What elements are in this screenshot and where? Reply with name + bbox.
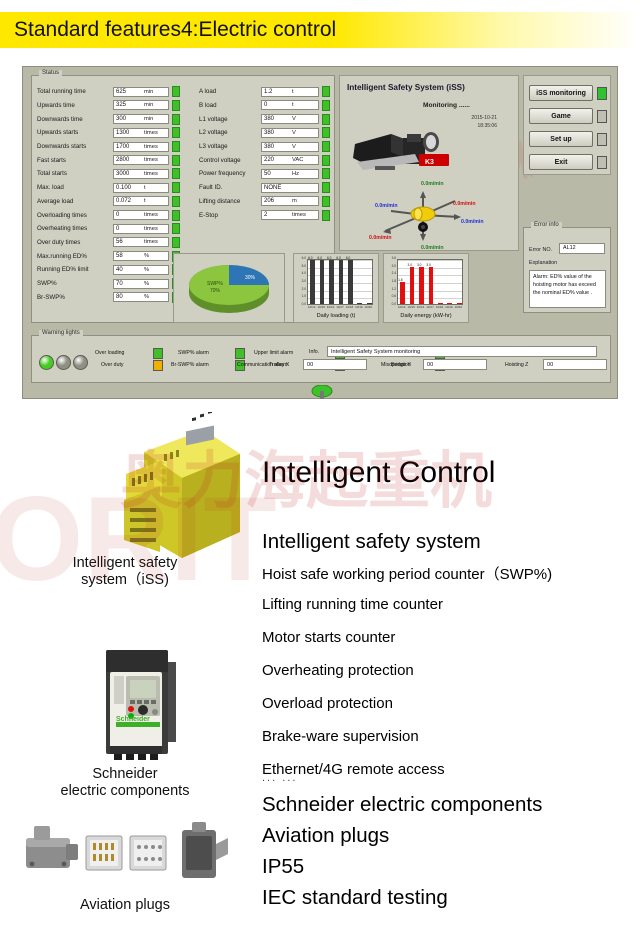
status-value: 625: [114, 89, 126, 95]
status-label: B load: [199, 102, 261, 109]
gridline: [398, 260, 462, 261]
status-unit: %: [144, 267, 168, 273]
status-led-indicator: [172, 100, 180, 111]
status-value-field[interactable]: 2times: [261, 210, 319, 220]
status-led-indicator: [322, 155, 330, 166]
warning-item-label: Br-SWP% alarm: [171, 362, 209, 368]
daily-loading-caption: Daily loading (t): [293, 313, 379, 319]
status-value-field[interactable]: 300min: [113, 114, 169, 124]
status-value-field[interactable]: 70%: [113, 279, 169, 289]
status-value: 80: [114, 294, 123, 300]
status-value-field[interactable]: 40%: [113, 265, 169, 275]
speed-readout: 0.0m/min: [453, 201, 476, 207]
status-value: 70: [114, 281, 123, 287]
status-value: 2: [262, 212, 267, 218]
status-left-row: Upwards time325min: [37, 99, 180, 113]
svg-text:30%: 30%: [245, 275, 256, 281]
status-led-indicator: [172, 223, 180, 234]
status-led-indicator: [322, 86, 330, 97]
hmi-button-led: [597, 156, 607, 169]
y-axis-tick: 2.4: [386, 272, 396, 275]
status-led-indicator: [172, 196, 180, 207]
status-value: 2800: [114, 157, 129, 163]
closing-item: Aviation plugs: [262, 824, 389, 848]
warning-item-label: Over loading: [95, 350, 124, 356]
schneider-vfd-image: Schneider: [96, 642, 192, 762]
status-value-field[interactable]: 0t: [261, 100, 319, 110]
status-right-row: L1 voltage380V: [199, 112, 330, 126]
status-value-field[interactable]: 1.2t: [261, 87, 319, 97]
status-label: E-Stop: [199, 212, 261, 219]
status-value-field[interactable]: 1300times: [113, 128, 169, 138]
warning-lamp: [56, 355, 71, 370]
x-axis-tick: 10/14: [307, 306, 316, 309]
y-axis-tick: 3.0: [296, 280, 306, 283]
status-unit: min: [144, 116, 168, 122]
status-unit: V: [292, 144, 318, 150]
status-value: 40: [114, 267, 123, 273]
coordinate-field[interactable]: 00: [543, 359, 607, 370]
status-value: 50: [262, 171, 271, 177]
y-axis-tick: 6.0: [296, 257, 306, 260]
status-unit: t: [144, 198, 168, 204]
bar-data-label: 6.0: [346, 257, 350, 260]
x-axis-tick: 10/14: [397, 306, 406, 309]
status-label: L3 voltage: [199, 143, 261, 150]
hmi-button-led: [597, 110, 607, 123]
status-value: 0: [114, 212, 119, 218]
status-right-row: A load1.2t: [199, 85, 330, 99]
status-right-row: L2 voltage380V: [199, 126, 330, 140]
status-label: Total running time: [37, 88, 113, 95]
status-right-row: E-Stop2times: [199, 208, 330, 222]
coordinate-label: Hoisting Z: [505, 362, 528, 368]
status-left-row: Downwards starts1700times: [37, 140, 180, 154]
hmi-date: 2015-10-21: [437, 115, 497, 121]
status-label: Upwards time: [37, 102, 113, 109]
status-label: A load: [199, 88, 261, 95]
caption-iss-line1: Intelligent safety: [0, 555, 250, 572]
status-value: 0.100: [114, 185, 131, 191]
pendant-control-icon: [311, 385, 333, 399]
status-value: 56: [114, 239, 123, 245]
status-unit: Hz: [292, 171, 318, 177]
bar: [339, 260, 344, 304]
bar: [457, 303, 462, 304]
bar: [447, 303, 452, 304]
status-right-row: Control voltage220VAC: [199, 154, 330, 168]
iss-module-image: [108, 412, 248, 562]
status-value: 206: [262, 198, 274, 204]
caption-plugs: Aviation plugs: [0, 897, 250, 914]
status-value-field[interactable]: 80%: [113, 292, 169, 302]
status-led-indicator: [172, 86, 180, 97]
status-value-field[interactable]: 325min: [113, 100, 169, 110]
status-left-row: Upwards starts1300times: [37, 126, 180, 140]
feature-item: Hoist safe working period counter（SWP%): [262, 563, 552, 584]
status-unit: %: [144, 253, 168, 259]
status-value-field[interactable]: 0.100t: [113, 183, 169, 193]
status-value: 58: [114, 253, 123, 259]
status-value: 3000: [114, 171, 129, 177]
bar: [400, 282, 405, 304]
x-axis-tick: 10/20: [364, 306, 373, 309]
status-left-row: Downwards time300min: [37, 112, 180, 126]
hoist-illustration: K3: [345, 122, 475, 192]
status-value: 1300: [114, 130, 129, 136]
closing-item: Schneider electric components: [262, 793, 542, 817]
status-label: Over duty times: [37, 239, 113, 246]
bar-data-label: 6.0: [336, 257, 340, 260]
status-label: Control voltage: [199, 157, 261, 164]
bar-data-label: 6.0: [327, 257, 331, 260]
status-label: Fault ID.: [199, 184, 261, 191]
bar: [419, 267, 424, 304]
status-label: Upwards starts: [37, 129, 113, 136]
coordinate-label: Trolley X: [269, 362, 289, 368]
status-led-indicator: [322, 114, 330, 125]
bar: [348, 260, 353, 304]
warning-item-led: [235, 348, 245, 359]
status-value-field[interactable]: 380V: [261, 142, 319, 152]
feature-item: Brake-ware supervision: [262, 728, 419, 745]
bar: [438, 303, 443, 304]
status-led-indicator: [172, 237, 180, 248]
status-unit: m: [292, 198, 318, 204]
warning-item-label: SWP% alarm: [178, 350, 209, 356]
warning-lamp: [73, 355, 88, 370]
swp-pie-chart: 30% SWP% 70%: [181, 259, 277, 317]
svg-text:SWP%: SWP%: [207, 281, 223, 287]
caption-plugs-line1: Aviation plugs: [0, 897, 250, 914]
status-unit: %: [144, 281, 168, 287]
status-unit: t: [292, 89, 318, 95]
status-left-row: Max.running ED%58%: [37, 249, 180, 263]
x-axis-tick: 10/18: [345, 306, 354, 309]
explanation-label: Explanation: [529, 260, 557, 266]
bar: [329, 260, 334, 304]
status-value-field[interactable]: NONE: [261, 183, 319, 193]
y-axis-tick: 3.0: [386, 265, 396, 268]
status-label: Max.running ED%: [37, 253, 113, 260]
x-axis-tick: 10/16: [416, 306, 425, 309]
status-label: Fast starts: [37, 157, 113, 164]
status-unit: times: [292, 212, 318, 218]
monitoring-status: Monitoring ......: [423, 102, 470, 109]
status-value: 0: [262, 102, 267, 108]
y-axis-tick: 1.0: [296, 295, 306, 298]
status-left-row: Total starts3000times: [37, 167, 180, 181]
status-right-row: Lifting distance206m: [199, 195, 330, 209]
hmi-button-iss-monitoring[interactable]: iSS monitoring: [529, 85, 593, 101]
svg-text:K3: K3: [425, 159, 434, 166]
status-unit: times: [144, 144, 168, 150]
status-right-row: Power frequency50Hz: [199, 167, 330, 181]
status-value: 300: [114, 116, 126, 122]
hmi-button-set-up[interactable]: Set up: [529, 131, 593, 147]
hmi-button-led: [597, 87, 607, 100]
status-led-indicator: [172, 141, 180, 152]
status-label: Total starts: [37, 170, 113, 177]
status-value: 1700: [114, 144, 129, 150]
status-value: 380: [262, 144, 274, 150]
bar-data-label: 3.0: [417, 264, 421, 267]
daily-energy-caption: Daily energy (kW-hr): [383, 313, 469, 319]
x-axis-tick: 10/18: [435, 306, 444, 309]
status-unit: VAC: [292, 157, 318, 163]
status-left-row: Overloading times0times: [37, 208, 180, 222]
bar: [429, 267, 434, 304]
caption-iss-line2: system（iSS): [0, 572, 250, 589]
status-unit: %: [144, 294, 168, 300]
feature-item: Motor starts counter: [262, 629, 395, 646]
bar: [367, 303, 372, 304]
status-label: Power frequency: [199, 170, 261, 177]
status-value: 380: [262, 130, 274, 136]
coordinate-field[interactable]: 00: [303, 359, 367, 370]
y-axis-tick: 0.0: [386, 303, 396, 306]
y-axis-tick: 1.2: [386, 288, 396, 291]
speed-readout: 0.0m/min: [421, 245, 444, 251]
status-value-field[interactable]: 58%: [113, 251, 169, 261]
title-banner: Standard features4:Electric control: [0, 12, 640, 48]
status-led-indicator: [322, 196, 330, 207]
status-value: 380: [262, 116, 274, 122]
warning-item-label: Upper limit alarm: [254, 350, 293, 356]
status-value-field[interactable]: 3000times: [113, 169, 169, 179]
status-led-indicator: [172, 114, 180, 125]
page-title: Standard features4:Electric control: [0, 18, 336, 42]
status-right-row: Fault ID.NONE: [199, 181, 330, 195]
status-unit: V: [292, 130, 318, 136]
speed-readout: 0.0m/min: [369, 235, 392, 241]
bar-data-label: 6.0: [308, 257, 312, 260]
status-unit: times: [144, 226, 168, 232]
status-label: Downwards time: [37, 116, 113, 123]
hmi-button-game[interactable]: Game: [529, 108, 593, 124]
section-heading-safety: Intelligent safety system: [262, 530, 481, 554]
warning-item-led: [153, 348, 163, 359]
warning-lamp: [39, 355, 54, 370]
status-led-indicator: [172, 127, 180, 138]
status-value-field[interactable]: 0times: [113, 224, 169, 234]
speed-readout: 0.0m/min: [421, 181, 444, 187]
y-axis-tick: 2.0: [296, 288, 306, 291]
ellipsis-text: ... ...: [262, 772, 297, 784]
hmi-button-exit[interactable]: Exit: [529, 154, 593, 170]
x-axis-tick: 10/19: [444, 306, 453, 309]
x-axis-tick: 10/17: [335, 306, 344, 309]
bar-data-label: 3.0: [426, 264, 430, 267]
status-value: NONE: [262, 185, 281, 191]
status-label: L1 voltage: [199, 116, 261, 123]
y-axis-tick: 3.6: [386, 257, 396, 260]
status-value-field[interactable]: 1700times: [113, 142, 169, 152]
status-unit: min: [144, 89, 168, 95]
bar-data-label: 6.0: [318, 257, 322, 260]
hmi-screenshot: 宴力起重机 Status Total running time625minUpw…: [22, 66, 618, 399]
status-unit: t: [292, 102, 318, 108]
info-label: Info.: [309, 349, 319, 355]
status-label: Running ED% limit: [37, 266, 113, 273]
hmi-button-led: [597, 133, 607, 146]
svg-text:70%: 70%: [210, 288, 221, 294]
warning-item-label: Over duty: [101, 362, 124, 368]
warning-item-led: [153, 360, 163, 371]
warning-lights-group-label: Warning lights: [39, 330, 83, 336]
info-value: Intelligent Safety System monitoring: [327, 346, 597, 357]
status-value: 0.072: [114, 198, 131, 204]
status-label: Lifting distance: [199, 198, 261, 205]
bar-data-label: 3.0: [408, 264, 412, 267]
status-left-row: Fast starts2800times: [37, 154, 180, 168]
speed-readout: 0.0m/min: [375, 203, 398, 209]
status-led-indicator: [172, 210, 180, 221]
status-led-indicator: [322, 210, 330, 221]
aviation-plugs-image: [20, 820, 236, 890]
status-label: Max. load: [37, 184, 113, 191]
svg-text:Schneider: Schneider: [116, 716, 150, 723]
status-label: Downwards starts: [37, 143, 113, 150]
bar: [357, 303, 362, 304]
status-led-indicator: [322, 168, 330, 179]
status-left-row: Br-SWP%80%: [37, 291, 180, 305]
status-label: Average load: [37, 198, 113, 205]
status-led-indicator: [322, 127, 330, 138]
status-label: Br-SWP%: [37, 294, 113, 301]
status-value: 325: [114, 102, 126, 108]
bar-data-label: 1.8: [398, 279, 402, 282]
status-right-row: B load0t: [199, 99, 330, 113]
error-info-group-label: Error info: [531, 222, 562, 228]
status-label: Overheating times: [37, 225, 113, 232]
status-value-field[interactable]: 0times: [113, 210, 169, 220]
status-unit: times: [144, 171, 168, 177]
caption-schneider: Schneider electric components: [0, 766, 250, 800]
status-unit: t: [144, 185, 168, 191]
status-label: Overloading times: [37, 212, 113, 219]
status-value-field[interactable]: 56times: [113, 237, 169, 247]
coordinate-label: Bridge Y: [391, 362, 411, 368]
status-value-field[interactable]: 380V: [261, 128, 319, 138]
status-label: SWP%: [37, 280, 113, 287]
error-no-label: Error NO.: [529, 247, 552, 253]
caption-iss: Intelligent safety system（iSS): [0, 555, 250, 589]
coordinate-field[interactable]: 00: [423, 359, 487, 370]
status-value-field[interactable]: 206m: [261, 196, 319, 206]
status-value-field[interactable]: 2800times: [113, 155, 169, 165]
status-unit: times: [144, 157, 168, 163]
status-left-row: Running ED% limit40%: [37, 263, 180, 277]
status-left-row: SWP%70%: [37, 277, 180, 291]
status-value: 1.2: [262, 89, 272, 95]
status-led-indicator: [322, 182, 330, 193]
error-no-value[interactable]: AL12: [559, 243, 605, 254]
status-value-field[interactable]: 380V: [261, 114, 319, 124]
caption-schneider-line1: Schneider: [0, 766, 250, 783]
caption-schneider-line2: electric components: [0, 783, 250, 800]
status-left-row: Average load0.072t: [37, 195, 180, 209]
x-axis-tick: 10/15: [406, 306, 415, 309]
error-explanation: Alarm: ED% value of the hoisting motor h…: [529, 270, 606, 308]
status-left-row: Max. load0.100t: [37, 181, 180, 195]
status-unit: times: [144, 130, 168, 136]
status-led-indicator: [172, 182, 180, 193]
plot-area: [307, 259, 373, 305]
status-value: 220: [262, 157, 274, 163]
iss-title: Intelligent Safety System (iSS): [347, 83, 465, 92]
status-unit: min: [144, 102, 168, 108]
x-axis-tick: 10/15: [316, 306, 325, 309]
closing-item: IP55: [262, 855, 304, 879]
bar: [320, 260, 325, 304]
status-unit: times: [144, 212, 168, 218]
status-led-indicator: [322, 100, 330, 111]
x-axis-tick: 10/16: [326, 306, 335, 309]
y-axis-tick: 1.8: [386, 280, 396, 283]
y-axis-tick: 4.0: [296, 272, 306, 275]
status-led-indicator: [172, 168, 180, 179]
x-axis-tick: 10/19: [354, 306, 363, 309]
status-led-indicator: [172, 155, 180, 166]
status-left-row: Overheating times0times: [37, 222, 180, 236]
status-left-row: Over duty times56times: [37, 236, 180, 250]
status-group-label: Status: [39, 70, 62, 76]
status-unit: times: [144, 239, 168, 245]
status-value: 0: [114, 226, 119, 232]
feature-item: Overheating protection: [262, 662, 414, 679]
x-axis-tick: 10/20: [454, 306, 463, 309]
status-unit: V: [292, 116, 318, 122]
feature-item: Lifting running time counter: [262, 596, 443, 613]
bar: [310, 260, 315, 304]
status-led-indicator: [322, 141, 330, 152]
status-right-row: L3 voltage380V: [199, 140, 330, 154]
status-value-field[interactable]: 50Hz: [261, 169, 319, 179]
status-value-field[interactable]: 220VAC: [261, 155, 319, 165]
status-left-row: Total running time625min: [37, 85, 180, 99]
main-heading: Intelligent Control: [262, 456, 495, 490]
feature-item: Overload protection: [262, 695, 393, 712]
closing-item: IEC standard testing: [262, 886, 448, 910]
status-value-field[interactable]: 625min: [113, 87, 169, 97]
speed-readout: 0.0m/min: [461, 219, 484, 225]
y-axis-tick: 0.0: [296, 303, 306, 306]
status-value-field[interactable]: 0.072t: [113, 196, 169, 206]
y-axis-tick: 0.6: [386, 295, 396, 298]
status-label: L2 voltage: [199, 129, 261, 136]
bar: [410, 267, 415, 304]
x-axis-tick: 10/17: [425, 306, 434, 309]
y-axis-tick: 5.0: [296, 265, 306, 268]
